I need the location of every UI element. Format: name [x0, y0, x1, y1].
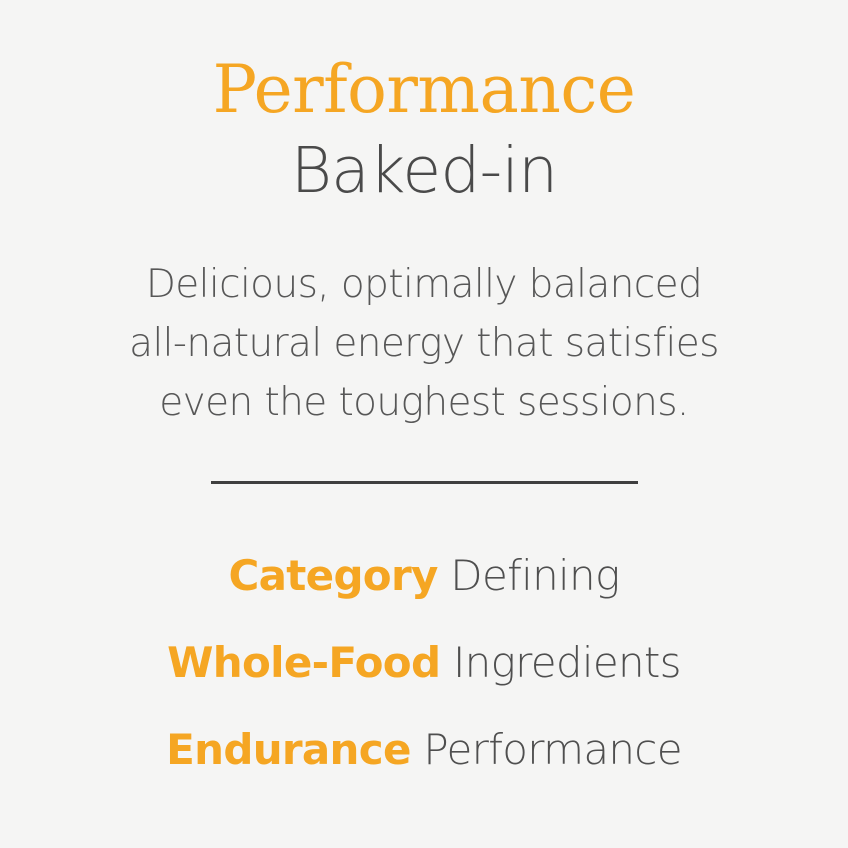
- feature-rest-1: Defining: [438, 551, 620, 600]
- feature-accent-3: Endurance: [166, 725, 411, 774]
- feature-accent-1: Category: [229, 551, 438, 600]
- headline-accent-line: Performance: [0, 52, 848, 127]
- section-divider: [211, 481, 638, 484]
- headline-main-line: Baked-in: [0, 133, 848, 209]
- feature-rest-2: Ingredients: [440, 638, 680, 687]
- feature-row: Category Defining: [0, 537, 848, 624]
- feature-rest-3: Performance: [411, 725, 682, 774]
- feature-row: Endurance Performance: [0, 711, 848, 798]
- feature-list: Category Defining Whole-Food Ingredients…: [0, 537, 848, 798]
- feature-accent-2: Whole-Food: [167, 638, 440, 687]
- body-paragraph: Delicious, optimally balanced all-natura…: [74, 255, 774, 433]
- body-line-3: even the toughest sessions.: [74, 373, 774, 432]
- feature-row: Whole-Food Ingredients: [0, 624, 848, 711]
- body-line-2: all-natural energy that satisfies: [74, 314, 774, 373]
- body-line-1: Delicious, optimally balanced: [74, 255, 774, 314]
- promo-card: Performance Baked-in Delicious, optimall…: [0, 0, 848, 848]
- headline-block: Performance Baked-in: [0, 52, 848, 209]
